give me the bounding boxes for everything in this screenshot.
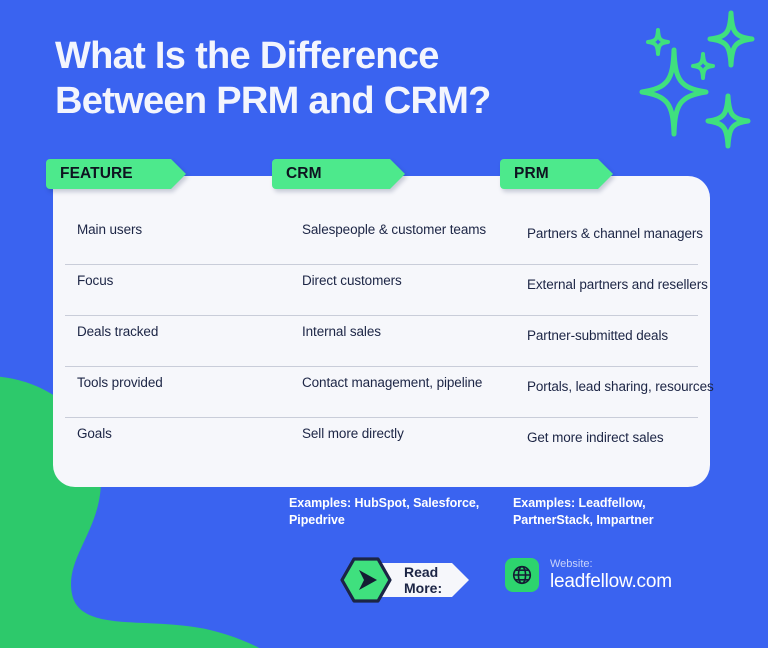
website-block[interactable]: Website: leadfellow.com — [505, 558, 672, 592]
cell-feature: Goals — [77, 418, 292, 442]
cell-feature: Deals tracked — [77, 316, 292, 340]
cell-prm: External partners and resellers — [527, 265, 727, 293]
examples-prm: Examples: Leadfellow, PartnerStack, Impa… — [513, 495, 698, 529]
table-row: Deals tracked Internal sales Partner-sub… — [65, 316, 698, 367]
column-header-prm-label: PRM — [514, 165, 549, 183]
cell-prm: Partners & channel managers — [527, 214, 727, 242]
cell-crm: Internal sales — [302, 316, 517, 340]
cell-feature: Main users — [77, 214, 292, 238]
page-title-line-2: Between PRM and CRM? — [55, 79, 575, 124]
table-row: Main users Salespeople & customer teams … — [65, 214, 698, 265]
page-title: What Is the Difference Between PRM and C… — [55, 34, 575, 124]
table-row: Focus Direct customers External partners… — [65, 265, 698, 316]
comparison-table: Main users Salespeople & customer teams … — [53, 176, 710, 468]
column-header-prm: PRM — [500, 159, 598, 189]
read-more-label: Read More: — [404, 564, 442, 596]
cell-feature: Tools provided — [77, 367, 292, 391]
cell-prm: Partner-submitted deals — [527, 316, 727, 344]
page-title-line-1: What Is the Difference — [55, 34, 575, 79]
table-row: Tools provided Contact management, pipel… — [65, 367, 698, 418]
website-url[interactable]: leadfellow.com — [550, 572, 672, 591]
comparison-table-card: Main users Salespeople & customer teams … — [53, 176, 710, 487]
read-more-button[interactable]: Read More: — [340, 557, 452, 603]
cell-feature: Focus — [77, 265, 292, 289]
cell-prm: Get more indirect sales — [527, 418, 727, 446]
website-label: Website: — [550, 559, 672, 570]
cell-crm: Sell more directly — [302, 418, 517, 442]
cell-crm: Direct customers — [302, 265, 517, 289]
cell-crm: Contact management, pipeline — [302, 367, 517, 391]
table-row: Goals Sell more directly Get more indire… — [65, 418, 698, 468]
column-header-crm-label: CRM — [286, 165, 322, 183]
play-arrow-icon[interactable] — [340, 557, 392, 603]
column-header-crm: CRM — [272, 159, 390, 189]
globe-icon — [505, 558, 539, 592]
column-header-feature-label: FEATURE — [60, 165, 133, 183]
cell-prm: Portals, lead sharing, resources — [527, 367, 727, 395]
website-text: Website: leadfellow.com — [550, 559, 672, 591]
column-header-feature: FEATURE — [46, 159, 171, 189]
infographic-canvas: What Is the Difference Between PRM and C… — [0, 0, 768, 648]
cell-crm: Salespeople & customer teams — [302, 214, 517, 238]
examples-crm: Examples: HubSpot, Salesforce, Pipedrive — [289, 495, 489, 529]
sparkle-icon-group — [628, 8, 768, 163]
